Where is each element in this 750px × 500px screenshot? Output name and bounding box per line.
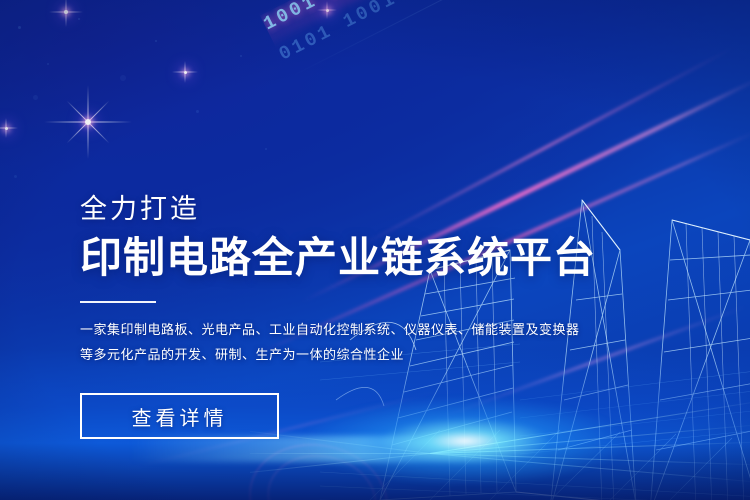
hero-eyebrow: 全力打造 [80, 196, 700, 223]
title-divider [80, 301, 156, 303]
hero-description: 一家集印制电路板、光电产品、工业自动化控制系统、仪器仪表、储能装置及变换器 等多… [80, 317, 700, 367]
hero-content: 全力打造 印制电路全产业链系统平台 一家集印制电路板、光电产品、工业自动化控制系… [80, 196, 700, 439]
description-line-1: 一家集印制电路板、光电产品、工业自动化控制系统、仪器仪表、储能装置及变换器 [80, 317, 700, 342]
hero-banner: 1001 101 1001 01 1001 101 01 1001 0110 1… [0, 0, 750, 500]
view-details-button[interactable]: 查看详情 [80, 393, 279, 439]
description-line-2: 等多元化产品的开发、研制、生产为一体的综合性企业 [80, 342, 700, 367]
hero-headline: 印制电路全产业链系统平台 [80, 237, 700, 279]
